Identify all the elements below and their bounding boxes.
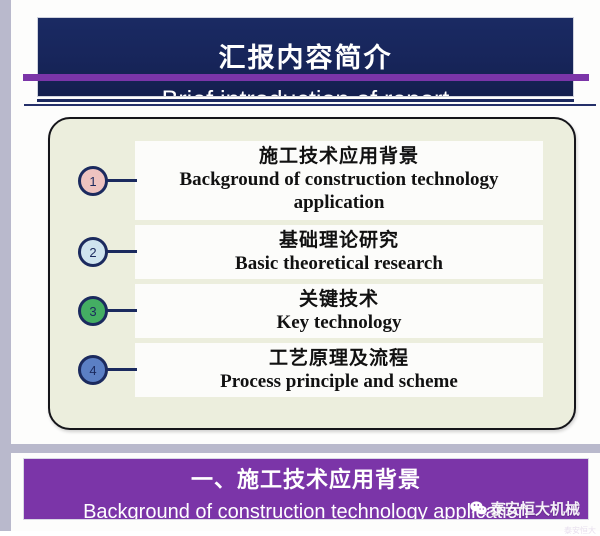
slide-two-bottom-strip xyxy=(23,74,589,81)
agenda-item-4-title-en: Process principle and scheme xyxy=(135,370,543,393)
slide-one-title-cn: 汇报内容简介 xyxy=(38,45,573,72)
agenda-marker-2: 2 xyxy=(78,237,108,267)
agenda-item-1-title-cn: 施工技术应用背景 xyxy=(135,145,543,168)
slide-separator xyxy=(0,444,600,453)
slide-introduction: 汇报内容简介 Brief introduction of report 施工技术… xyxy=(11,0,600,444)
agenda-item-2-title-en: Basic theoretical research xyxy=(135,252,543,275)
presentation-page: 汇报内容简介 Brief introduction of report 施工技术… xyxy=(0,0,600,531)
slide-two-title-cn: 一、施工技术应用背景 xyxy=(24,469,588,491)
banner-divider-line xyxy=(37,99,574,102)
agenda-marker-1: 1 xyxy=(78,166,108,196)
banner-divider-line-secondary xyxy=(24,104,596,106)
agenda-item-2[interactable]: 基础理论研究 Basic theoretical research xyxy=(135,225,543,279)
agenda-item-4[interactable]: 工艺原理及流程 Process principle and scheme xyxy=(135,343,543,397)
agenda-connector-4 xyxy=(107,368,137,371)
agenda-item-2-title-cn: 基础理论研究 xyxy=(135,229,543,252)
agenda-item-3-title-cn: 关键技术 xyxy=(135,288,543,311)
agenda-item-3-title-en: Key technology xyxy=(135,311,543,334)
agenda-connector-3 xyxy=(107,309,137,312)
slide-one-title-en: Brief introduction of report xyxy=(38,88,573,97)
agenda-item-1-title-en: Background of construction technology ap… xyxy=(135,168,543,214)
agenda-marker-3: 3 xyxy=(78,296,108,326)
agenda-card: 施工技术应用背景 Background of construction tech… xyxy=(48,117,576,430)
slide-section-one: 一、施工技术应用背景 Background of construction te… xyxy=(11,453,600,531)
agenda-connector-2 xyxy=(107,250,137,253)
agenda-marker-4: 4 xyxy=(78,355,108,385)
agenda-list: 施工技术应用背景 Background of construction tech… xyxy=(50,119,574,428)
agenda-item-1[interactable]: 施工技术应用背景 Background of construction tech… xyxy=(135,141,543,220)
slide-one-title-banner: 汇报内容简介 Brief introduction of report xyxy=(37,17,574,97)
agenda-item-4-title-cn: 工艺原理及流程 xyxy=(135,347,543,370)
agenda-item-3[interactable]: 关键技术 Key technology xyxy=(135,284,543,338)
slide-two-title-banner: 一、施工技术应用背景 Background of construction te… xyxy=(23,458,589,520)
slide-two-title-en: Background of construction technology ap… xyxy=(24,502,588,520)
agenda-connector-1 xyxy=(107,179,137,182)
